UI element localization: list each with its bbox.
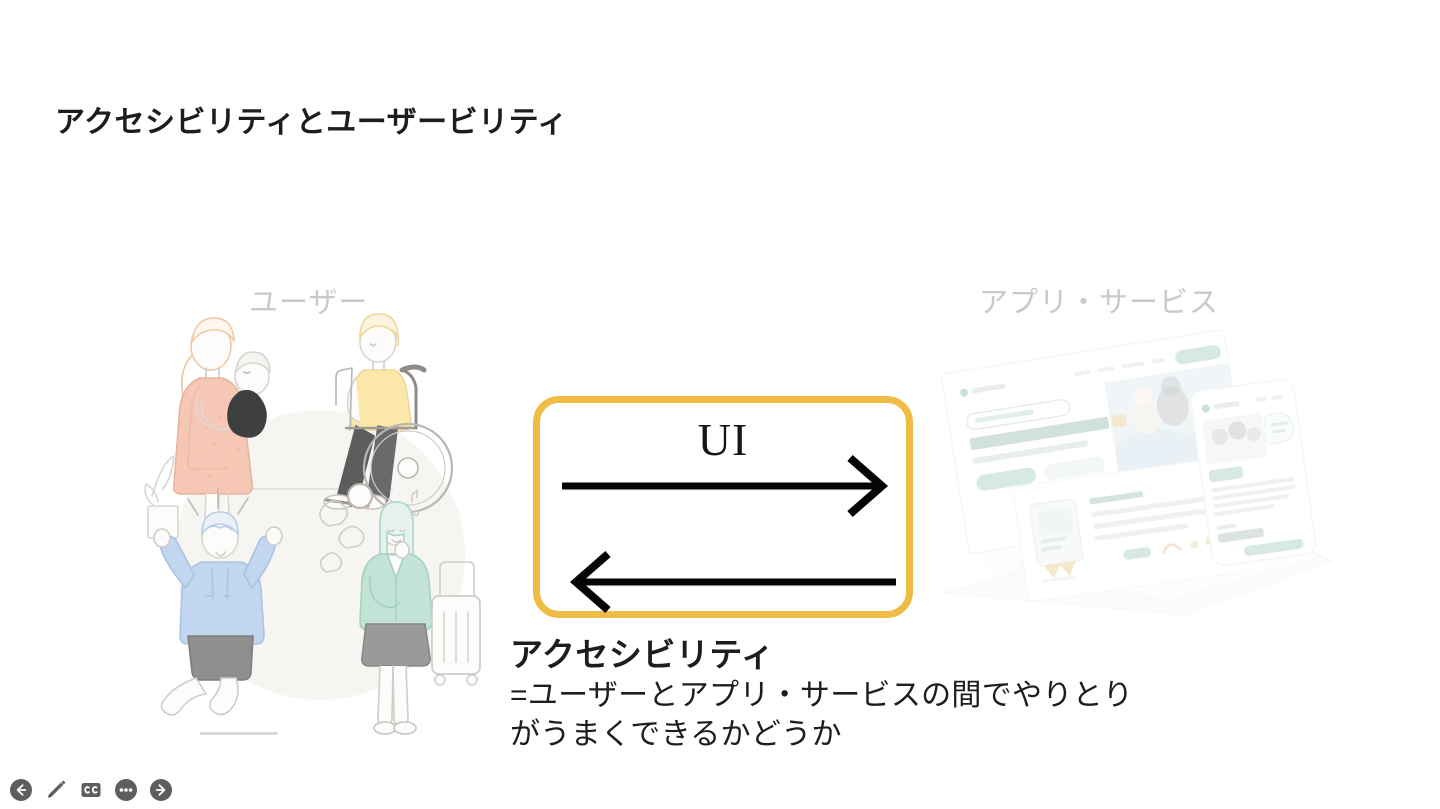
pencil-icon [44, 778, 68, 802]
label-app-service: アプリ・サービス [979, 279, 1219, 321]
previous-slide-button[interactable] [6, 775, 36, 805]
cc-icon [79, 778, 103, 802]
device-mockups-svg [935, 325, 1355, 615]
users-figures-svg [140, 300, 480, 750]
caption-heading: アクセシビリティ [510, 636, 1340, 675]
arrow-right [562, 458, 882, 514]
captions-button[interactable] [76, 775, 106, 805]
arrow-left-circle-icon [9, 778, 33, 802]
app-service-mockup-illustration [935, 325, 1355, 615]
figure-person-in-wheelchair [324, 314, 452, 512]
caption-body: =ユーザーとアプリ・サービスの間でやりとり がうまくできるかどうか [510, 676, 1340, 754]
more-options-button[interactable] [111, 775, 141, 805]
ui-box-arrows [540, 403, 920, 625]
slide-toolbar [6, 775, 176, 805]
next-slide-button[interactable] [146, 775, 176, 805]
figure-mother-holding-child [145, 318, 270, 546]
caption-line-2: がうまくできるかどうか [510, 715, 1340, 754]
caption-block: アクセシビリティ =ユーザーとアプリ・サービスの間でやりとり がうまくできるかど… [510, 636, 1340, 754]
caption-line-1: =ユーザーとアプリ・サービスの間でやりとり [510, 676, 1340, 715]
slide-canvas: アクセシビリティとユーザービリティ ユーザー アプリ・サービス [0, 0, 1440, 809]
figure-woman-with-suitcase [320, 490, 480, 734]
pen-tool-button[interactable] [41, 775, 71, 805]
users-illustration [140, 300, 480, 750]
arrow-right-circle-icon [149, 778, 173, 802]
decor-plant [145, 456, 178, 538]
page-title: アクセシビリティとユーザービリティ [55, 97, 568, 141]
arrow-left [576, 554, 896, 610]
ellipsis-circle-icon [114, 778, 138, 802]
ui-box: UI [533, 396, 913, 618]
